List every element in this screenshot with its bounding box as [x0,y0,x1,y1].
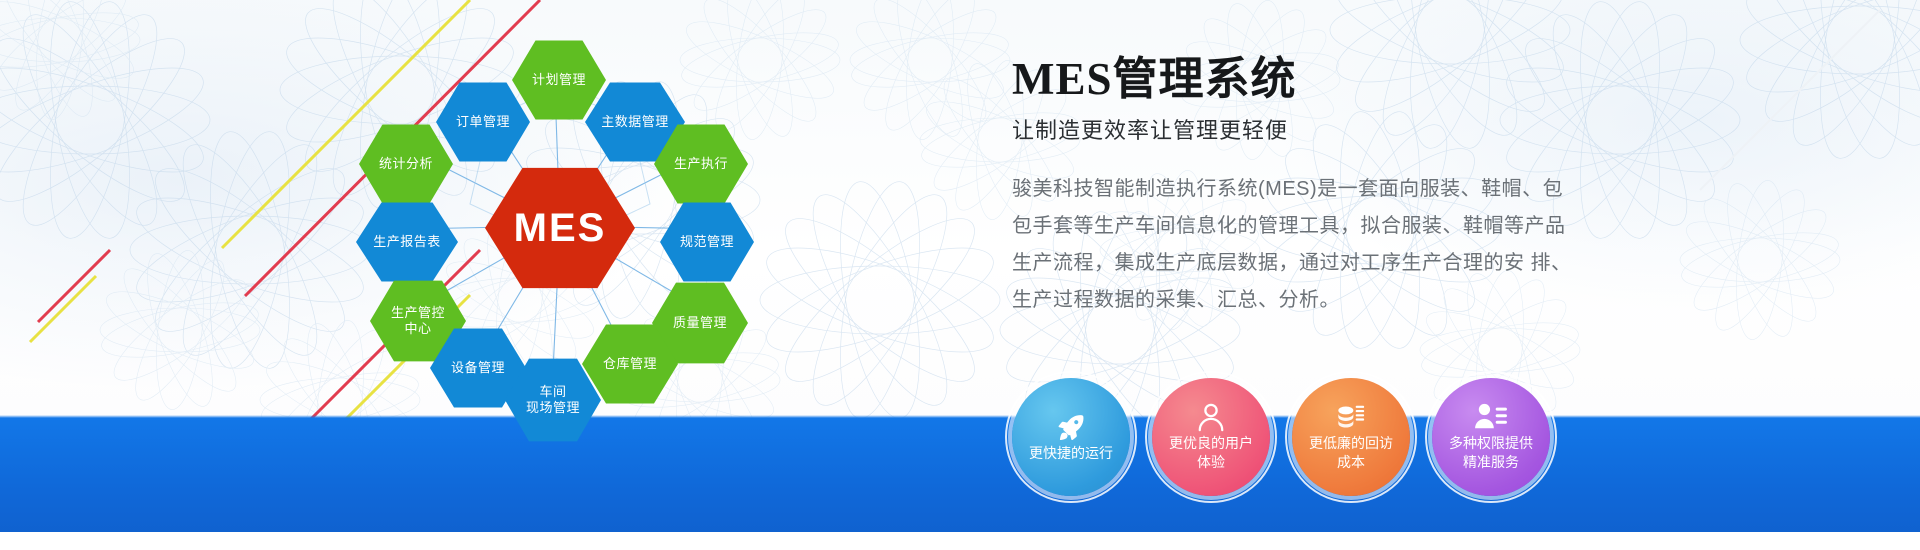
hex-label-warehouse: 仓库管理 [597,356,663,372]
feature-label-experience: 更优良的用户体验 [1159,434,1263,472]
rocket-icon [1056,412,1086,442]
page-title: MES管理系统 [1012,56,1672,103]
hex-label-equipment: 设备管理 [445,360,511,376]
hex-label-control: 生产管控中心 [385,305,451,338]
feature-circle-speed[interactable]: 更快捷的运行 [1012,378,1130,496]
hex-label-report: 生产报告表 [367,234,447,250]
money-icon [1336,402,1366,432]
feature-circle-experience[interactable]: 更优良的用户体验 [1152,378,1270,496]
feature-circle-cost[interactable]: 更低廉的回访成本 [1292,378,1410,496]
hex-label-masterdata: 主数据管理 [595,114,675,130]
hex-label-order: 订单管理 [450,114,516,130]
hex-label-quality: 质量管理 [667,315,733,331]
hex-label-execution: 生产执行 [668,156,734,172]
hex-label-spec: 规范管理 [674,234,740,250]
hex-label-plan: 计划管理 [526,72,592,88]
feature-label-permission: 多种权限提供精准服务 [1439,434,1543,472]
feature-circle-list: 更快捷的运行 更优良的用户体验 [1012,378,1550,496]
feature-circle-permission[interactable]: 多种权限提供精准服务 [1432,378,1550,496]
bottom-white-strip [0,532,1920,550]
feature-label-speed: 更快捷的运行 [1019,444,1123,463]
mes-hexagon-diagram: MES 计划管理 订单管理 主数据管理 统计分析 生产执行 生产报告表 规范管理… [330,14,790,434]
user-icon [1196,402,1226,432]
page-subtitle: 让制造更效率让管理更轻便 [1012,113,1672,145]
banner-copy: MES管理系统 让制造更效率让管理更轻便 骏美科技智能制造执行系统(MES)是一… [1012,56,1672,319]
hex-label-statistics: 统计分析 [373,156,439,172]
user-list-icon [1475,402,1507,432]
blue-band [0,418,1920,550]
hex-core-label: MES [508,203,613,253]
feature-label-cost: 更低廉的回访成本 [1299,434,1403,472]
page-description: 骏美科技智能制造执行系统(MES)是一套面向服装、鞋帽、包包手套等生产车间信息化… [1012,171,1572,319]
mes-banner: MES 计划管理 订单管理 主数据管理 统计分析 生产执行 生产报告表 规范管理… [0,0,1920,550]
hex-label-workshop: 车间现场管理 [520,384,586,417]
